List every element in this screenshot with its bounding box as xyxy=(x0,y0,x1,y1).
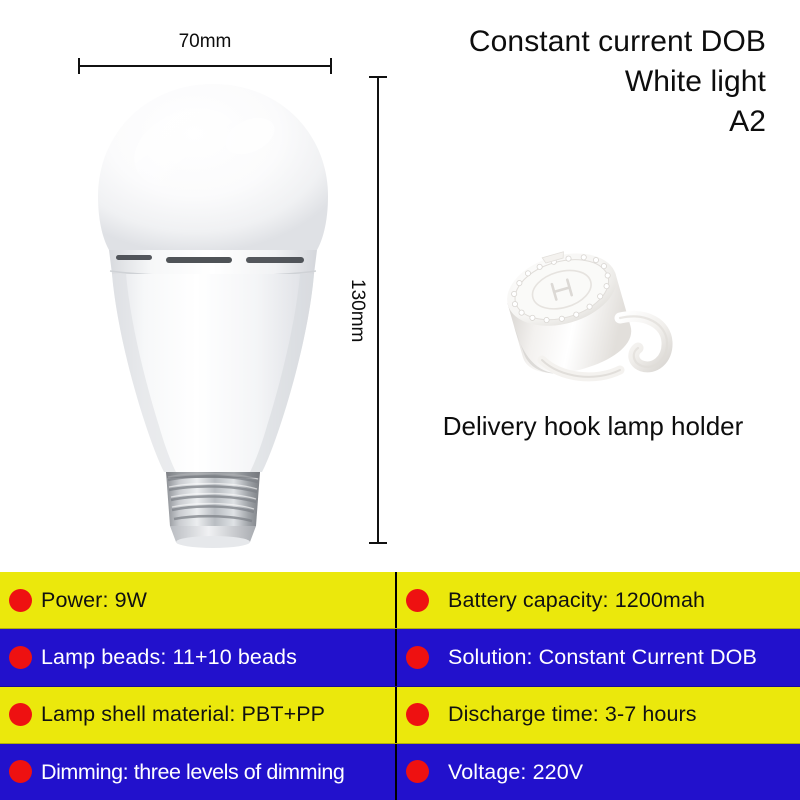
heading-line-3: A2 xyxy=(346,102,766,142)
spec-cell-left: Lamp shell material: PBT+PP xyxy=(0,687,395,743)
spec-label-shell-material: Lamp shell material: PBT+PP xyxy=(41,703,325,726)
table-row: Power: 9W Battery capacity: 1200mah xyxy=(0,572,800,629)
heading-line-1: Constant current DOB xyxy=(346,22,766,62)
table-row: Lamp beads: 11+10 beads Solution: Consta… xyxy=(0,629,800,686)
spec-cell-right: Voltage: 220V xyxy=(395,744,800,800)
bullet-icon xyxy=(406,760,429,783)
spec-cell-right: Solution: Constant Current DOB xyxy=(395,629,800,685)
spec-cell-left: Lamp beads: 11+10 beads xyxy=(0,629,395,685)
bullet-icon xyxy=(406,703,429,726)
bullet-icon xyxy=(9,589,32,612)
bullet-icon xyxy=(406,589,429,612)
holder-caption: Delivery hook lamp holder xyxy=(398,411,788,442)
bullet-icon xyxy=(406,646,429,669)
spec-cell-right: Battery capacity: 1200mah xyxy=(395,572,800,628)
spec-label-lamp-beads: Lamp beads: 11+10 beads xyxy=(41,646,297,669)
spec-table: Power: 9W Battery capacity: 1200mah Lamp… xyxy=(0,572,800,800)
width-dimension-line xyxy=(78,65,332,67)
table-row: Lamp shell material: PBT+PP Discharge ti… xyxy=(0,687,800,744)
spec-cell-right: Discharge time: 3-7 hours xyxy=(395,687,800,743)
spec-label-dimming: Dimming: three levels of dimming xyxy=(41,761,344,784)
bullet-icon xyxy=(9,760,32,783)
bullet-icon xyxy=(9,646,32,669)
heading-block: Constant current DOB White light A2 xyxy=(346,22,766,142)
heading-line-2: White light xyxy=(346,62,766,102)
spec-cell-left: Dimming: three levels of dimming xyxy=(0,744,395,800)
height-dimension-label: 130mm xyxy=(346,279,368,342)
spec-label-power: Power: 9W xyxy=(41,589,147,612)
hook-lamp-holder-image xyxy=(486,246,698,396)
spec-label-battery-capacity: Battery capacity: 1200mah xyxy=(448,589,705,612)
led-bulb-image xyxy=(82,78,344,548)
product-infographic: Constant current DOB White light A2 70mm… xyxy=(0,0,800,800)
spec-cell-left: Power: 9W xyxy=(0,572,395,628)
bullet-icon xyxy=(9,703,32,726)
table-row: Dimming: three levels of dimming Voltage… xyxy=(0,744,800,800)
width-dimension-label: 70mm xyxy=(78,31,332,53)
spec-label-voltage: Voltage: 220V xyxy=(448,761,583,784)
spec-label-solution: Solution: Constant Current DOB xyxy=(448,646,757,669)
spec-label-discharge-time: Discharge time: 3-7 hours xyxy=(448,703,697,726)
height-dimension-line xyxy=(377,76,379,544)
